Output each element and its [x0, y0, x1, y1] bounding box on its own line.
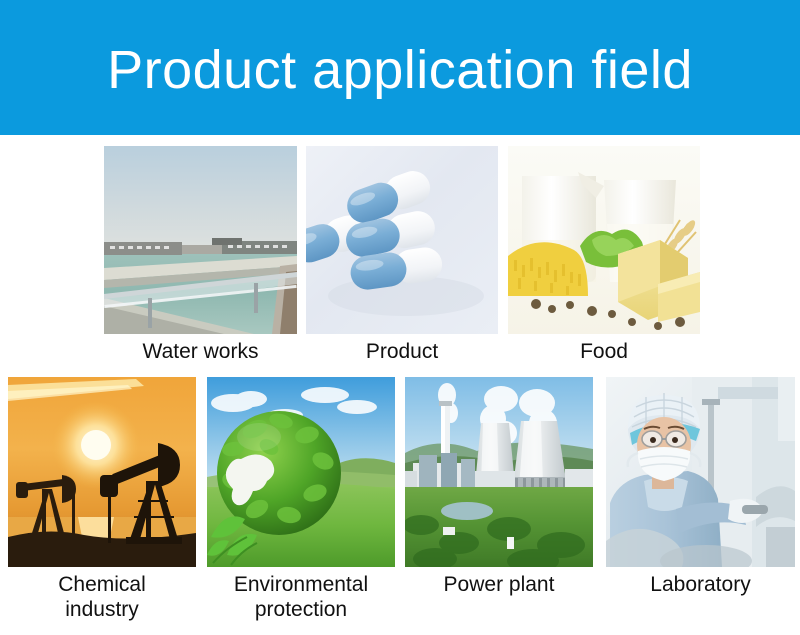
card-label-water-works: Water works	[104, 339, 297, 364]
page-title: Product application field	[107, 43, 693, 97]
application-card-water-works[interactable]: Water works	[104, 146, 297, 364]
food-dairy-photo	[508, 146, 700, 334]
laboratory-technician-photo	[606, 377, 795, 567]
card-label-chemical-industry: Chemical industry	[8, 572, 196, 622]
power-plant-cooling-towers-photo	[405, 377, 593, 567]
header-banner: Product application field	[0, 0, 800, 135]
application-card-power-plant[interactable]: Power plant	[405, 377, 593, 597]
application-card-chemical-industry[interactable]: Chemical industry	[8, 377, 196, 622]
oil-pumpjack-sunset-photo	[8, 377, 196, 567]
card-label-environmental-protection: Environmental protection	[207, 572, 395, 622]
card-label-power-plant: Power plant	[405, 572, 593, 597]
application-card-product[interactable]: Product	[306, 146, 498, 364]
application-card-food[interactable]: Food	[508, 146, 700, 364]
green-globe-photo	[207, 377, 395, 567]
application-card-environmental-protection[interactable]: Environmental protection	[207, 377, 395, 622]
card-label-laboratory: Laboratory	[606, 572, 795, 597]
card-label-food: Food	[508, 339, 700, 364]
card-label-product: Product	[306, 339, 498, 364]
water-treatment-plant-photo	[104, 146, 297, 334]
capsules-photo	[306, 146, 498, 334]
application-card-laboratory[interactable]: Laboratory	[606, 377, 795, 597]
